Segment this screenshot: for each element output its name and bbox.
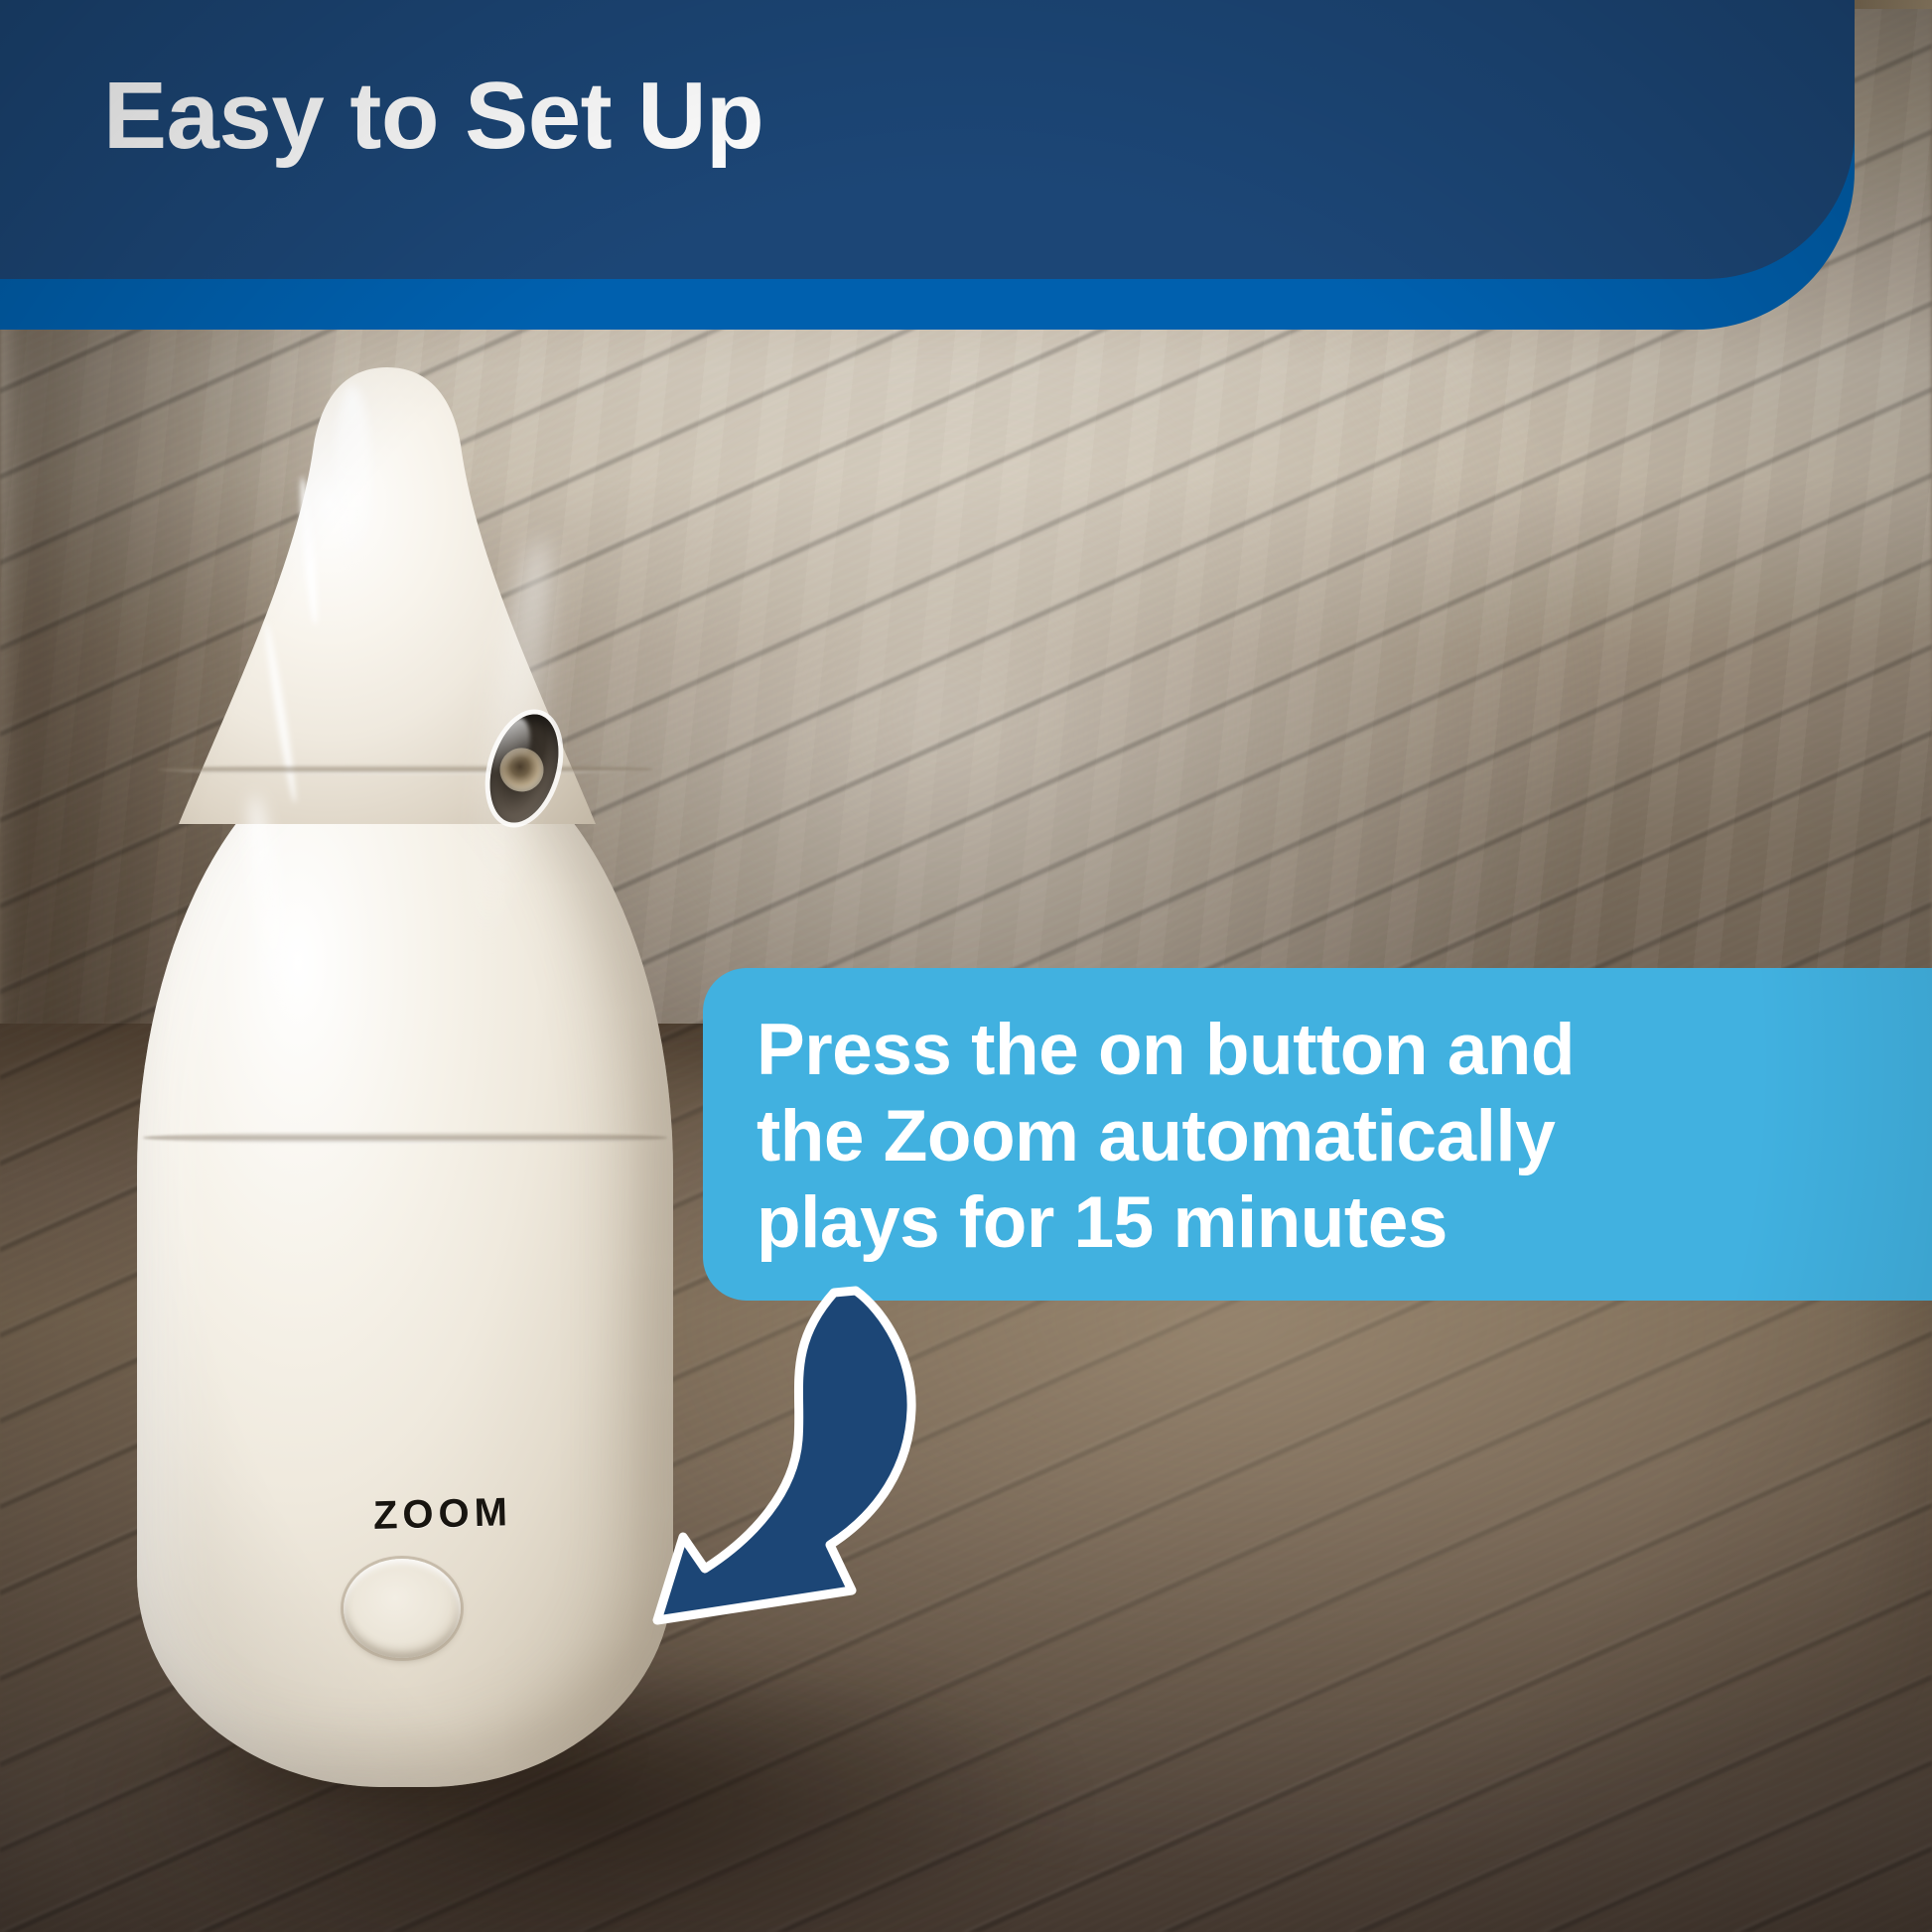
device-seam-lower	[143, 1132, 667, 1144]
zoom-device: ZOOM	[137, 367, 673, 1787]
header-band-dark: Easy to Set Up	[0, 0, 1855, 279]
device-brand-label: ZOOM	[343, 1489, 542, 1539]
power-button[interactable]	[344, 1559, 461, 1658]
callout-line-2: the Zoom automatically	[757, 1094, 1898, 1180]
device-tip-highlight	[334, 385, 371, 574]
device-seam-upper	[157, 764, 653, 774]
callout-line-1: Press the on button and	[757, 1008, 1898, 1094]
callout-text: Press the on button and the Zoom automat…	[757, 1008, 1898, 1267]
callout-bubble: Press the on button and the Zoom automat…	[703, 968, 1932, 1301]
product-instruction-graphic: ZOOM Easy to Set Up Press the on button …	[0, 0, 1932, 1932]
page-title: Easy to Set Up	[103, 62, 763, 171]
callout-line-3: plays for 15 minutes	[757, 1180, 1898, 1267]
